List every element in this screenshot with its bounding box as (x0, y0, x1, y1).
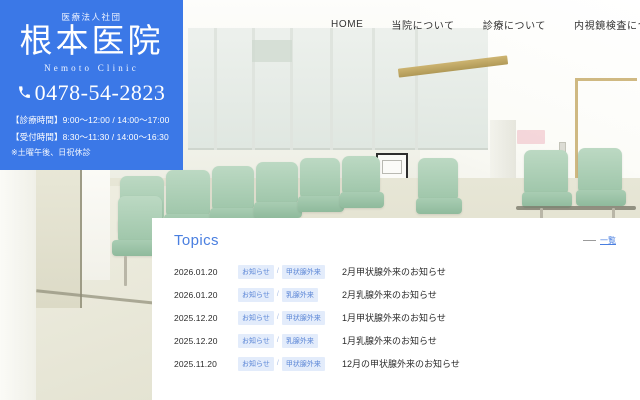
topic-date: 2025.12.20 (174, 313, 236, 323)
topic-categories: お知らせ / 甲状腺外来 (238, 357, 332, 371)
table-row[interactable]: 2025.11.20 お知らせ / 甲状腺外来 12月の甲状腺外来のお知らせ (174, 352, 620, 375)
photo-chair-back (300, 158, 340, 198)
topic-date: 2026.01.20 (174, 267, 236, 277)
category-separator: / (277, 291, 279, 298)
photo-bench-frame (516, 206, 636, 210)
topic-categories: お知らせ / 甲状腺外来 (238, 311, 332, 325)
table-row[interactable]: 2026.01.20 お知らせ / 甲状腺外来 2月甲状腺外来のお知らせ (174, 260, 620, 283)
photo-chair-seat (298, 196, 344, 212)
photo-chair-back (578, 148, 622, 192)
photo-chair-back (166, 170, 210, 216)
topic-category-badge[interactable]: 甲状腺外来 (282, 265, 325, 279)
category-separator: / (277, 268, 279, 275)
topics-view-all-link[interactable]: 一覧 (583, 235, 616, 246)
nav-item-home[interactable]: HOME (331, 19, 363, 30)
photo-chair-seat (576, 190, 626, 206)
photo-chair-leg (124, 256, 127, 286)
topic-category-badge[interactable]: 乳腺外来 (282, 334, 318, 348)
photo-chair-back (256, 162, 298, 204)
nav-item-treatment[interactable]: 診療について (483, 17, 546, 32)
photo-wall-left (0, 150, 36, 400)
closed-note: ※土曜午後、日祝休診 (11, 145, 183, 161)
category-separator: / (277, 360, 279, 367)
topic-date: 2025.12.20 (174, 336, 236, 346)
topic-category-badge[interactable]: お知らせ (238, 265, 274, 279)
photo-doorway (82, 160, 110, 280)
clinic-info-panel: 医療法人社団 根本医院 Nemoto Clinic 0478-54-2823 【… (0, 0, 183, 170)
topic-categories: お知らせ / 甲状腺外来 (238, 265, 332, 279)
topic-category-badge[interactable]: お知らせ (238, 311, 274, 325)
topic-categories: お知らせ / 乳腺外来 (238, 334, 332, 348)
clinic-name: 根本医院 (0, 24, 183, 61)
nav-item-endoscopy[interactable]: 内視鏡検査について (574, 17, 640, 32)
topic-category-badge[interactable]: お知らせ (238, 357, 274, 371)
topic-title[interactable]: 2月乳腺外来のお知らせ (342, 288, 437, 301)
page-root: HOME 当院について 診療について 内視鏡検査について 医療法人社団 根本医院… (0, 0, 640, 400)
phone-number[interactable]: 0478-54-2823 (35, 82, 166, 104)
corporate-prefix: 医療法人社団 (0, 11, 183, 23)
topic-category-badge[interactable]: 甲状腺外来 (282, 357, 325, 371)
phone-row[interactable]: 0478-54-2823 (0, 82, 183, 104)
photo-chair-seat (416, 198, 462, 214)
topic-title[interactable]: 1月乳腺外来のお知らせ (342, 334, 437, 347)
dash-icon (583, 240, 596, 241)
topic-title[interactable]: 2月甲状腺外来のお知らせ (342, 265, 446, 278)
topics-card: Topics 一覧 2026.01.20 お知らせ / 甲状腺外来 2月甲状腺外… (152, 218, 640, 400)
photo-chair-seat (340, 192, 384, 208)
topic-category-badge[interactable]: お知らせ (238, 288, 274, 302)
photo-chair-back (342, 156, 380, 194)
topics-header: Topics 一覧 (174, 232, 620, 249)
photo-pink-sign (517, 130, 545, 144)
topic-categories: お知らせ / 乳腺外来 (238, 288, 332, 302)
topics-title: Topics (174, 232, 219, 249)
photo-chair-back (212, 166, 254, 210)
hours-block: 【診療時間】9:00〜12:00 / 14:00〜17:00 【受付時間】8:3… (0, 112, 183, 161)
photo-framed-picture (376, 153, 408, 181)
main-navigation[interactable]: HOME 当院について 診療について 内視鏡検査について (183, 0, 640, 48)
topic-title[interactable]: 1月甲状腺外来のお知らせ (342, 311, 446, 324)
photo-partition-left (36, 158, 82, 308)
topic-date: 2026.01.20 (174, 290, 236, 300)
category-separator: / (277, 337, 279, 344)
table-row[interactable]: 2025.12.20 お知らせ / 乳腺外来 1月乳腺外来のお知らせ (174, 329, 620, 352)
topic-category-badge[interactable]: 乳腺外来 (282, 288, 318, 302)
photo-chair-seat (254, 202, 302, 218)
topic-category-badge[interactable]: 甲状腺外来 (282, 311, 325, 325)
photo-chair-back (524, 150, 568, 194)
topic-category-badge[interactable]: お知らせ (238, 334, 274, 348)
clinic-name-english: Nemoto Clinic (0, 63, 183, 73)
consultation-hours: 【診療時間】9:00〜12:00 / 14:00〜17:00 (11, 112, 183, 129)
view-all-label: 一覧 (600, 235, 616, 246)
table-row[interactable]: 2025.12.20 お知らせ / 甲状腺外来 1月甲状腺外来のお知らせ (174, 306, 620, 329)
topic-date: 2025.11.20 (174, 359, 236, 369)
topic-title[interactable]: 12月の甲状腺外来のお知らせ (342, 357, 460, 370)
category-separator: / (277, 314, 279, 321)
nav-item-about[interactable]: 当院について (391, 17, 454, 32)
reception-hours: 【受付時間】8:30〜11:30 / 14:00〜16:30 (11, 129, 183, 146)
photo-chair-back (418, 158, 458, 200)
phone-handset-icon (18, 86, 31, 99)
table-row[interactable]: 2026.01.20 お知らせ / 乳腺外来 2月乳腺外来のお知らせ (174, 283, 620, 306)
